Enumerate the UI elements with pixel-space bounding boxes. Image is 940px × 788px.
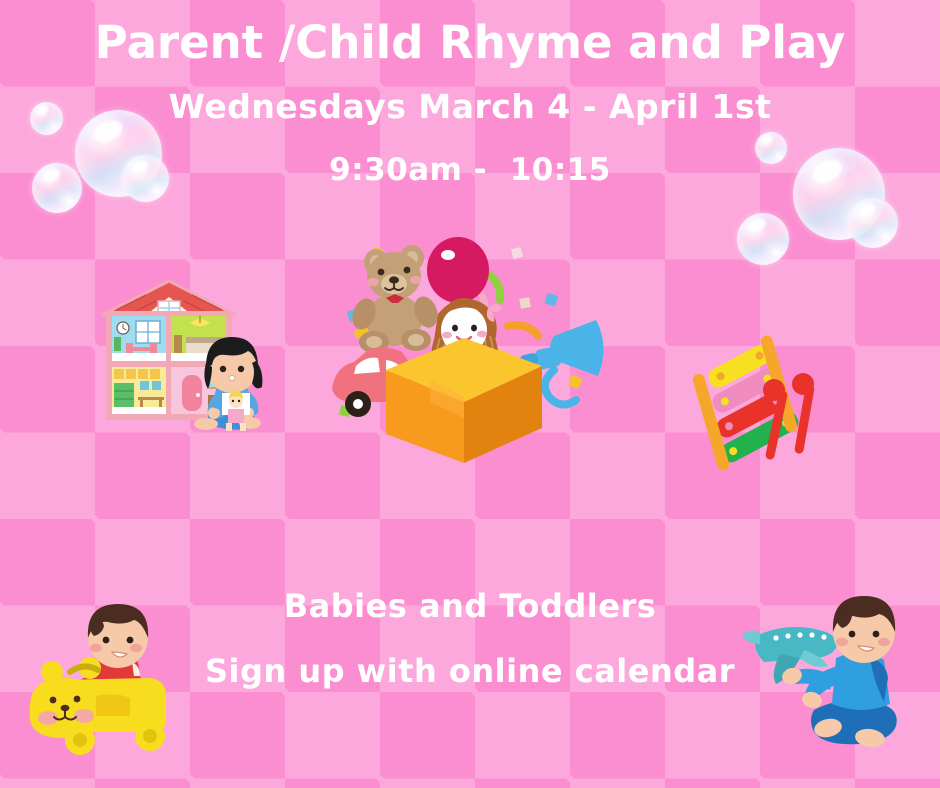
toybox-illustration [330,228,610,463]
bubble-small-upper-right-icon [755,132,787,164]
teddy-bear [348,245,442,353]
bubble-medium-lower-left-icon [32,163,82,213]
dollhouse-with-girl-illustration [98,275,268,440]
bubble-small-upper-left-icon [30,102,63,135]
xylophone-illustration [692,332,837,467]
bubble-medium-lower-right-icon [122,155,169,202]
ride-on-car [30,657,166,755]
bubble-medium-bottom-right-right-icon [848,198,898,248]
bubble-medium-bottom-left-right-icon [737,213,789,265]
boy-in-ride-on-car-illustration [22,600,197,755]
boy-figure [780,596,897,749]
poster-canvas: Parent /Child Rhyme and Play Wednesdays … [0,0,940,788]
boy-with-airplane-illustration [742,592,927,750]
